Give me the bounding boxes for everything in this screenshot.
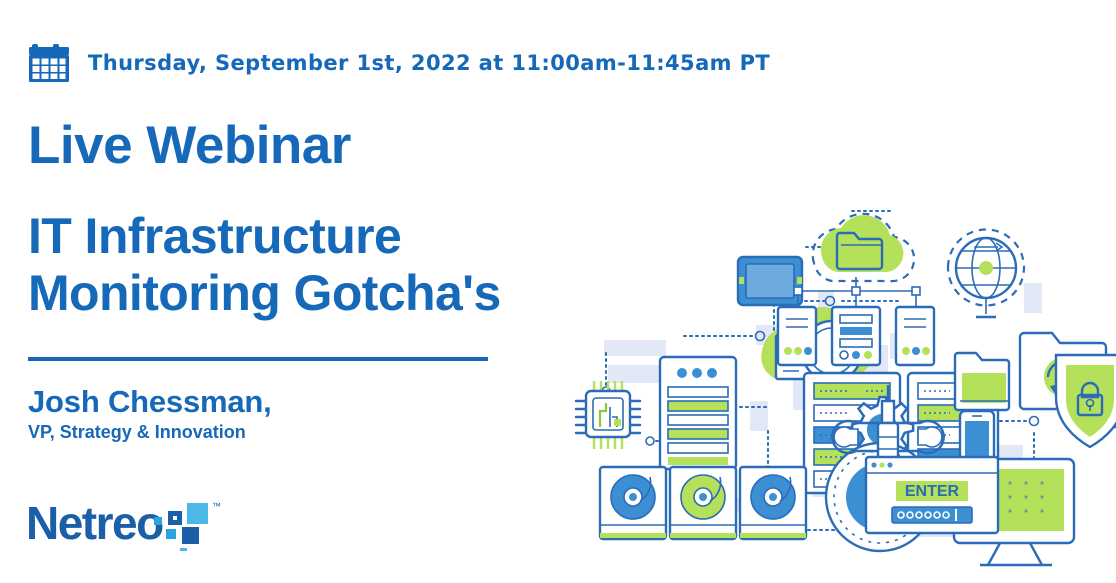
globe-network-icon: [948, 230, 1024, 318]
divider: [28, 357, 488, 361]
left-content-panel: Thursday, September 1st, 2022 at 11:00am…: [0, 0, 620, 583]
page-title: IT Infrastructure Monitoring Gotcha's: [28, 208, 501, 322]
browser-login-icon: ENTER: [866, 457, 998, 533]
logo-wordmark: Netreo: [26, 497, 163, 549]
page-title-line-1: IT Infrastructure: [28, 208, 501, 265]
shield-lock-icon: [1056, 355, 1116, 447]
eyebrow-live-webinar: Live Webinar: [28, 118, 351, 174]
enter-button-label: ENTER: [905, 483, 960, 500]
speaker-role: VP, Strategy & Innovation: [28, 422, 246, 443]
date-row: Thursday, September 1st, 2022 at 11:00am…: [28, 40, 770, 86]
folder-icon: [955, 353, 1009, 410]
speaker-name: Josh Chessman,: [28, 384, 272, 420]
logo-trademark: ™: [212, 501, 221, 511]
tablet-icon: [738, 257, 802, 305]
document-list-icon: [660, 357, 736, 469]
webinar-poster: Thursday, September 1st, 2022 at 11:00am…: [0, 0, 1116, 583]
cloud-folder-icon: [813, 214, 914, 281]
hard-drive-icon: [600, 467, 806, 539]
infrastructure-illustration: .ln { fill:none; stroke:#2b6cb8; stroke-…: [560, 205, 1116, 583]
netreo-logo: Netreo ™: [26, 495, 226, 551]
server-tower-icon: [778, 307, 934, 365]
page-title-line-2: Monitoring Gotcha's: [28, 265, 501, 322]
webinar-date-text: Thursday, September 1st, 2022 at 11:00am…: [88, 51, 770, 75]
calendar-icon: [28, 40, 74, 86]
cpu-chip-icon: [576, 381, 640, 449]
